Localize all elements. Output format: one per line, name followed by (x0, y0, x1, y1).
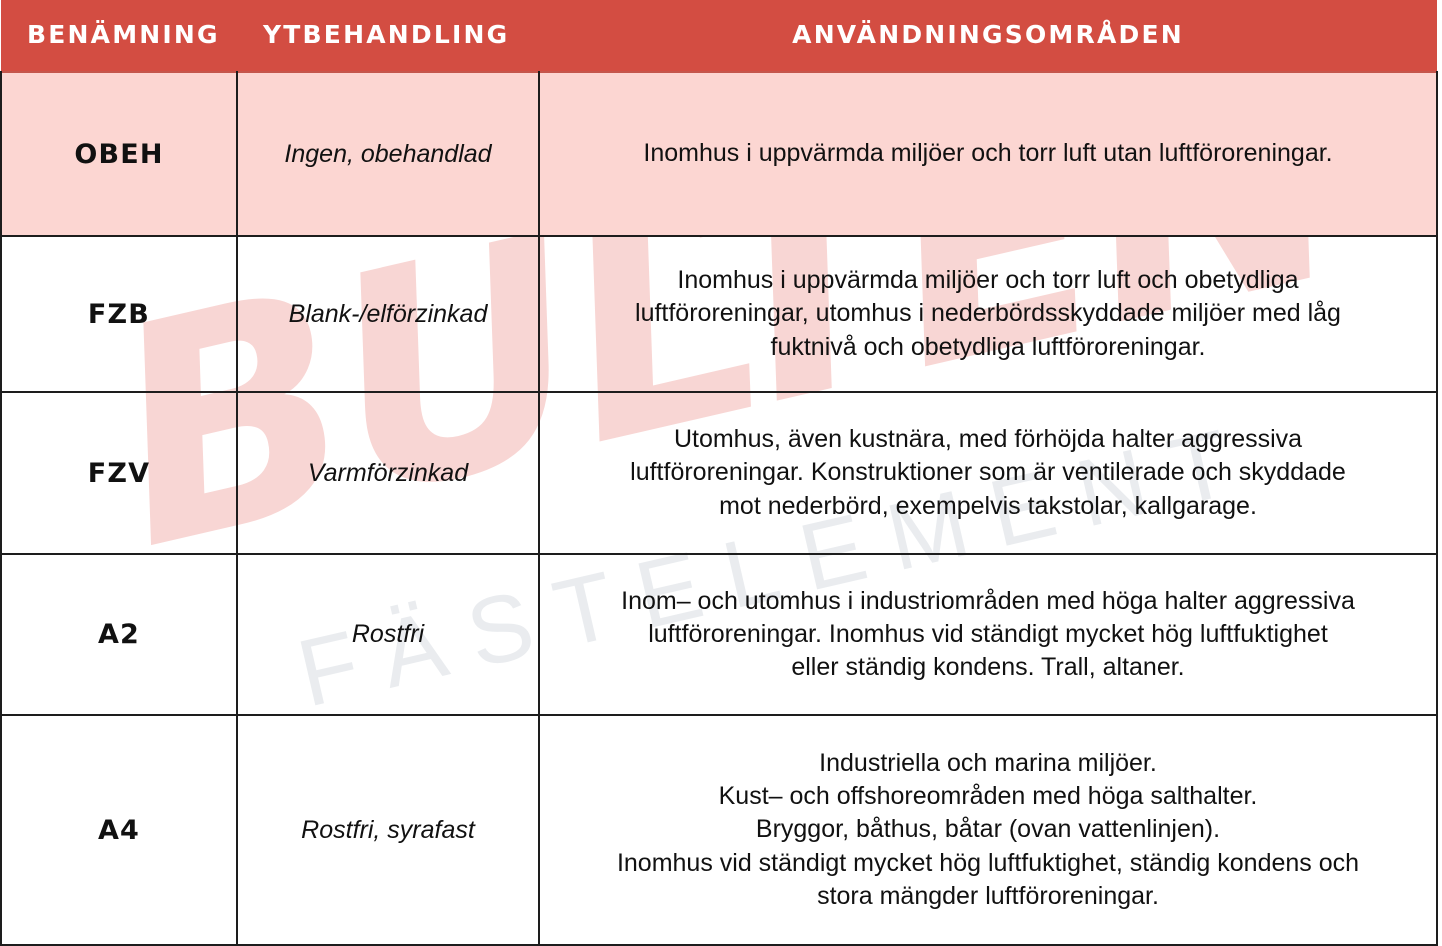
usage-line: eller ständig kondens. Trall, altaner. (550, 651, 1426, 684)
table-row: FZBBlank-/elförzinkadInomhus i uppvärmda… (1, 236, 1437, 392)
cell-benamning: OBEH (1, 72, 237, 236)
table-header-row: BENÄMNING YTBEHANDLING ANVÄNDNINGSOMRÅDE… (1, 0, 1437, 72)
cell-ytbehandling: Rostfri (237, 554, 539, 715)
usage-line: Bryggor, båthus, båtar (ovan vattenlinje… (550, 813, 1426, 846)
usage-line: Utomhus, även kustnära, med förhöjda hal… (550, 423, 1426, 456)
cell-anvandningsomraden: Inomhus i uppvärmda miljöer och torr luf… (539, 236, 1437, 392)
usage-line: Inomhus vid ständigt mycket hög luftfukt… (550, 847, 1426, 880)
column-header-ytbehandling: YTBEHANDLING (237, 0, 539, 72)
usage-line: Inomhus i uppvärmda miljöer och torr luf… (550, 137, 1426, 170)
usage-line: Kust– och offshoreområden med höga salth… (550, 780, 1426, 813)
usage-line: Inom– och utomhus i industriområden med … (550, 585, 1426, 618)
cell-ytbehandling: Rostfri, syrafast (237, 715, 539, 945)
column-header-anvandningsomraden: ANVÄNDNINGSOMRÅDEN (539, 0, 1437, 72)
table-row: FZVVarmförzinkadUtomhus, även kustnära, … (1, 392, 1437, 554)
usage-line: fuktnivå och obetydliga luftföroreningar… (550, 331, 1426, 364)
cell-anvandningsomraden: Utomhus, även kustnära, med förhöjda hal… (539, 392, 1437, 554)
usage-line: luftföroreningar. Konstruktioner som är … (550, 456, 1426, 489)
surface-treatment-table: BENÄMNING YTBEHANDLING ANVÄNDNINGSOMRÅDE… (0, 0, 1438, 946)
cell-anvandningsomraden: Industriella och marina miljöer.Kust– oc… (539, 715, 1437, 945)
cell-benamning: A4 (1, 715, 237, 945)
column-header-benamning: BENÄMNING (1, 0, 237, 72)
table-row: A4Rostfri, syrafastIndustriella och mari… (1, 715, 1437, 945)
cell-benamning: FZV (1, 392, 237, 554)
usage-line: luftföroreningar. Inomhus vid ständigt m… (550, 618, 1426, 651)
table-row: A2RostfriInom– och utomhus i industriomr… (1, 554, 1437, 715)
cell-ytbehandling: Ingen, obehandlad (237, 72, 539, 236)
usage-line: Inomhus i uppvärmda miljöer och torr luf… (550, 264, 1426, 297)
cell-ytbehandling: Blank-/elförzinkad (237, 236, 539, 392)
cell-benamning: A2 (1, 554, 237, 715)
usage-line: mot nederbörd, exempelvis takstolar, kal… (550, 490, 1426, 523)
usage-line: stora mängder luftföroreningar. (550, 880, 1426, 913)
cell-anvandningsomraden: Inom– och utomhus i industriområden med … (539, 554, 1437, 715)
cell-ytbehandling: Varmförzinkad (237, 392, 539, 554)
usage-line: Industriella och marina miljöer. (550, 747, 1426, 780)
table-header: BENÄMNING YTBEHANDLING ANVÄNDNINGSOMRÅDE… (1, 0, 1437, 72)
table-body: OBEHIngen, obehandladInomhus i uppvärmda… (1, 72, 1437, 945)
cell-anvandningsomraden: Inomhus i uppvärmda miljöer och torr luf… (539, 72, 1437, 236)
table-row: OBEHIngen, obehandladInomhus i uppvärmda… (1, 72, 1437, 236)
cell-benamning: FZB (1, 236, 237, 392)
usage-line: luftföroreningar, utomhus i nederbördssk… (550, 297, 1426, 330)
